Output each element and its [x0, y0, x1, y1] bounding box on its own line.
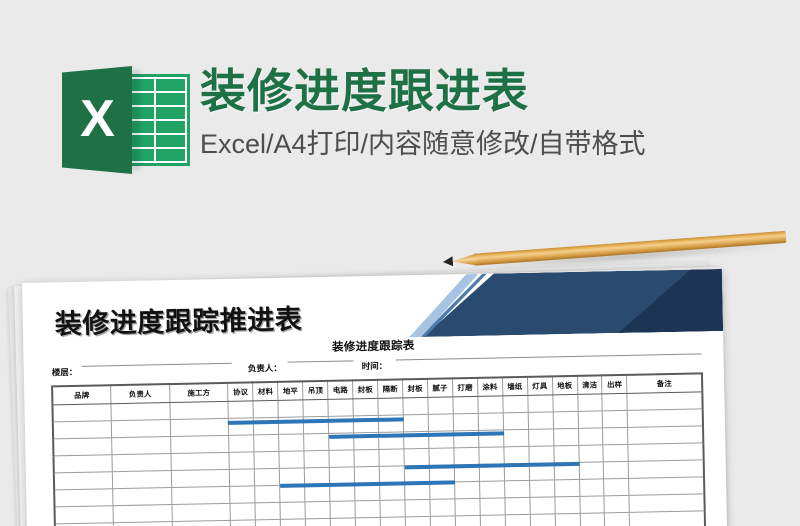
table-cell[interactable]	[555, 496, 580, 513]
table-cell[interactable]	[231, 520, 256, 526]
pencil-tip	[443, 256, 454, 267]
table-cell[interactable]	[603, 444, 628, 461]
table-cell[interactable]	[529, 480, 554, 497]
table-cell[interactable]	[580, 513, 605, 526]
table-cell[interactable]	[254, 434, 279, 451]
table-cell[interactable]	[528, 412, 553, 429]
table-cell[interactable]	[303, 399, 328, 416]
table-cell[interactable]	[278, 400, 303, 417]
table-header-cell: 隔断	[378, 379, 403, 398]
table-cell[interactable]	[304, 450, 329, 467]
table-cell[interactable]	[503, 412, 528, 429]
table-cell[interactable]	[505, 497, 530, 514]
table-cell[interactable]	[529, 446, 554, 463]
table-cell[interactable]	[354, 466, 379, 483]
table-cell[interactable]	[170, 435, 229, 453]
screenshot-root: X 装修进度跟进表 Excel/A4打印/内容随意修改/自带格式 装修进度跟踪推…	[0, 0, 800, 526]
table-cell[interactable]	[355, 517, 380, 526]
progress-table-body	[52, 392, 705, 526]
table-cell[interactable]	[629, 477, 704, 496]
table-cell[interactable]	[113, 522, 172, 526]
table-cell[interactable]	[478, 430, 503, 447]
meta-label-floor: 楼层：	[52, 366, 78, 379]
table-cell[interactable]	[579, 496, 604, 513]
table-cell[interactable]	[455, 498, 480, 515]
table-cell[interactable]	[171, 486, 230, 504]
table-header-cell: 封板	[353, 380, 378, 399]
table-header-cell: 清洁	[577, 375, 602, 394]
excel-letter-x: X	[62, 66, 132, 174]
table-cell[interactable]	[430, 499, 455, 516]
table-cell[interactable]	[453, 413, 478, 430]
table-cell[interactable]	[112, 454, 171, 472]
table-cell[interactable]	[429, 465, 454, 482]
table-cell[interactable]	[403, 397, 428, 414]
table-cell[interactable]	[555, 513, 580, 526]
document-banner-decoration	[397, 269, 723, 338]
meta-label-time: 时间：	[362, 360, 388, 373]
table-cell[interactable]	[306, 518, 331, 526]
table-cell[interactable]	[553, 411, 578, 428]
table-cell[interactable]	[628, 443, 703, 462]
table-cell[interactable]	[379, 449, 404, 466]
table-cell[interactable]	[379, 466, 404, 483]
table-cell[interactable]	[355, 500, 380, 517]
table-cell[interactable]	[279, 451, 304, 468]
table-cell[interactable]	[329, 433, 354, 450]
table-cell[interactable]	[629, 460, 704, 479]
table-cell[interactable]	[380, 517, 405, 526]
table-cell[interactable]	[253, 400, 278, 417]
table-cell[interactable]	[578, 445, 603, 462]
table-cell[interactable]	[455, 515, 480, 526]
table-cell[interactable]	[552, 394, 577, 411]
table-cell[interactable]	[428, 431, 453, 448]
table-cell[interactable]	[404, 431, 429, 448]
table-cell[interactable]	[53, 438, 112, 456]
table-cell[interactable]	[628, 409, 703, 428]
table-cell[interactable]	[578, 411, 603, 428]
table-header-cell: 墙纸	[502, 377, 527, 396]
table-cell[interactable]	[256, 519, 281, 526]
table-cell[interactable]	[354, 432, 379, 449]
table-header-cell: 协议	[228, 382, 253, 401]
table-cell[interactable]	[454, 464, 479, 481]
table-cell[interactable]	[112, 437, 171, 455]
table-cell[interactable]	[603, 410, 628, 427]
table-cell[interactable]	[453, 396, 478, 413]
table-cell[interactable]	[630, 511, 705, 526]
table-cell[interactable]	[603, 427, 628, 444]
table-header-cell: 灯具	[527, 376, 552, 395]
document-preview-scene: 装修进度跟踪推进表 装修进度跟踪表 楼层： 负责人： 时间： 品牌负责人施工方协…	[0, 228, 800, 526]
table-cell[interactable]	[255, 468, 280, 485]
table-cell[interactable]	[604, 495, 629, 512]
table-cell[interactable]	[528, 429, 553, 446]
table-cell[interactable]	[355, 483, 380, 500]
table-cell[interactable]	[478, 413, 503, 430]
table-cell[interactable]	[404, 465, 429, 482]
table-cell[interactable]	[111, 403, 170, 421]
table-cell[interactable]	[504, 446, 529, 463]
table-cell[interactable]	[528, 395, 553, 412]
table-header-cell: 负责人	[111, 384, 170, 404]
table-cell[interactable]	[479, 447, 504, 464]
table-cell[interactable]	[52, 404, 111, 422]
table-cell[interactable]	[229, 418, 254, 435]
table-cell[interactable]	[602, 393, 627, 410]
table-header-cell: 涂料	[477, 377, 502, 396]
meta-label-owner: 负责人：	[248, 362, 282, 375]
table-cell[interactable]	[54, 489, 113, 507]
table-cell[interactable]	[405, 516, 430, 526]
table-cell[interactable]	[279, 417, 304, 434]
table-cell[interactable]	[380, 483, 405, 500]
table-header-cell: 材料	[253, 382, 278, 401]
table-cell[interactable]	[330, 501, 355, 518]
table-cell[interactable]	[480, 515, 505, 526]
table-cell[interactable]	[605, 512, 630, 526]
table-cell[interactable]	[113, 488, 172, 506]
table-cell[interactable]	[628, 426, 703, 445]
table-header-cell: 出样	[602, 375, 627, 394]
table-cell[interactable]	[480, 498, 505, 515]
table-header-cell: 地平	[278, 381, 303, 400]
table-cell[interactable]	[280, 485, 305, 502]
table-cell[interactable]	[453, 430, 478, 447]
table-cell[interactable]	[304, 433, 329, 450]
table-cell[interactable]	[305, 467, 330, 484]
table-header-cell: 吊顶	[303, 381, 328, 400]
table-header-cell: 备注	[627, 373, 702, 393]
excel-icon: X	[62, 60, 190, 180]
table-cell[interactable]	[53, 421, 112, 439]
table-cell[interactable]	[378, 415, 403, 432]
table-header-cell: 施工方	[169, 383, 228, 403]
table-cell[interactable]	[229, 435, 254, 452]
table-cell[interactable]	[405, 499, 430, 516]
table-cell[interactable]	[430, 516, 455, 526]
table-cell[interactable]	[503, 395, 528, 412]
table-cell[interactable]	[230, 469, 255, 486]
table-cell[interactable]	[281, 519, 306, 526]
table-header-cell: 地板	[552, 376, 577, 395]
table-cell[interactable]	[503, 429, 528, 446]
table-cell[interactable]	[255, 485, 280, 502]
table-cell[interactable]	[229, 452, 254, 469]
table-cell[interactable]	[54, 472, 113, 490]
table-cell[interactable]	[403, 414, 428, 431]
table-cell[interactable]	[504, 463, 529, 480]
table-cell[interactable]	[254, 417, 279, 434]
table-cell[interactable]	[478, 396, 503, 413]
table-cell[interactable]	[428, 414, 453, 431]
hero-title: 装修进度跟进表	[200, 62, 790, 120]
table-cell[interactable]	[505, 514, 530, 526]
table-cell[interactable]	[578, 428, 603, 445]
table-cell[interactable]	[479, 481, 504, 498]
meta-rule-owner	[288, 360, 354, 362]
table-cell[interactable]	[280, 468, 305, 485]
table-cell[interactable]	[553, 445, 578, 462]
table-cell[interactable]	[170, 401, 229, 419]
table-cell[interactable]	[328, 399, 353, 416]
table-cell[interactable]	[255, 502, 280, 519]
table-cell[interactable]	[280, 502, 305, 519]
table-cell[interactable]	[530, 514, 555, 526]
table-header-cell: 品牌	[52, 385, 111, 405]
table-cell[interactable]	[330, 484, 355, 501]
table-cell[interactable]	[112, 471, 171, 489]
table-cell[interactable]	[55, 506, 114, 524]
table-cell[interactable]	[171, 452, 230, 470]
table-cell[interactable]	[113, 505, 172, 523]
table-cell[interactable]	[553, 428, 578, 445]
table-cell[interactable]	[577, 394, 602, 411]
table-cell[interactable]	[228, 401, 253, 418]
table-cell[interactable]	[328, 416, 353, 433]
table-cell[interactable]	[378, 398, 403, 415]
table-cell[interactable]	[53, 455, 112, 473]
table-cell[interactable]	[254, 451, 279, 468]
document-title: 装修进度跟踪推进表	[54, 297, 302, 341]
table-cell[interactable]	[379, 432, 404, 449]
table-cell[interactable]	[279, 434, 304, 451]
table-cell[interactable]	[479, 464, 504, 481]
hero-text-block: 装修进度跟进表 Excel/A4打印/内容随意修改/自带格式	[200, 62, 790, 161]
table-cell[interactable]	[171, 469, 230, 487]
table-cell[interactable]	[454, 481, 479, 498]
table-cell[interactable]	[604, 478, 629, 495]
table-cell[interactable]	[329, 450, 354, 467]
table-cell[interactable]	[629, 494, 704, 513]
table-cell[interactable]	[111, 420, 170, 438]
table-cell[interactable]	[380, 500, 405, 517]
document-page[interactable]: 装修进度跟踪推进表 装修进度跟踪表 楼层： 负责人： 时间： 品牌负责人施工方协…	[22, 269, 727, 526]
table-cell[interactable]	[329, 467, 354, 484]
table-header-cell: 打磨	[452, 378, 477, 397]
hero-banner: X 装修进度跟进表 Excel/A4打印/内容随意修改/自带格式	[0, 0, 800, 215]
table-cell[interactable]	[170, 418, 229, 436]
table-cell[interactable]	[305, 484, 330, 501]
table-cell[interactable]	[430, 482, 455, 499]
table-header-cell: 封板	[402, 379, 427, 398]
table-cell[interactable]	[454, 447, 479, 464]
table-cell[interactable]	[579, 462, 604, 479]
table-cell[interactable]	[404, 448, 429, 465]
meta-rule-floor	[82, 363, 232, 367]
table-cell[interactable]	[554, 479, 579, 496]
table-cell[interactable]	[330, 518, 355, 526]
table-header-cell: 腻子	[427, 378, 452, 397]
progress-table[interactable]: 品牌负责人施工方协议材料地平吊顶电路封板隔断封板腻子打磨涂料墙纸灯具地板清洁出样…	[51, 372, 706, 526]
table-cell[interactable]	[529, 463, 554, 480]
table-cell[interactable]	[172, 503, 231, 521]
table-cell[interactable]	[303, 416, 328, 433]
table-cell[interactable]	[604, 461, 629, 478]
table-cell[interactable]	[428, 397, 453, 414]
table-cell[interactable]	[504, 480, 529, 497]
table-cell[interactable]	[627, 392, 702, 411]
table-cell[interactable]	[172, 520, 231, 526]
table-cell[interactable]	[230, 503, 255, 520]
table-cell[interactable]	[429, 448, 454, 465]
table-cell[interactable]	[554, 462, 579, 479]
table-cell[interactable]	[230, 486, 255, 503]
table-cell[interactable]	[354, 449, 379, 466]
table-cell[interactable]	[405, 482, 430, 499]
table-header-cell: 电路	[328, 380, 353, 399]
table-cell[interactable]	[305, 501, 330, 518]
table-cell[interactable]	[353, 398, 378, 415]
table-cell[interactable]	[530, 497, 555, 514]
table-cell[interactable]	[353, 415, 378, 432]
meta-rule-time	[396, 353, 702, 360]
table-cell[interactable]	[579, 479, 604, 496]
hero-subtitle: Excel/A4打印/内容随意修改/自带格式	[200, 127, 790, 161]
